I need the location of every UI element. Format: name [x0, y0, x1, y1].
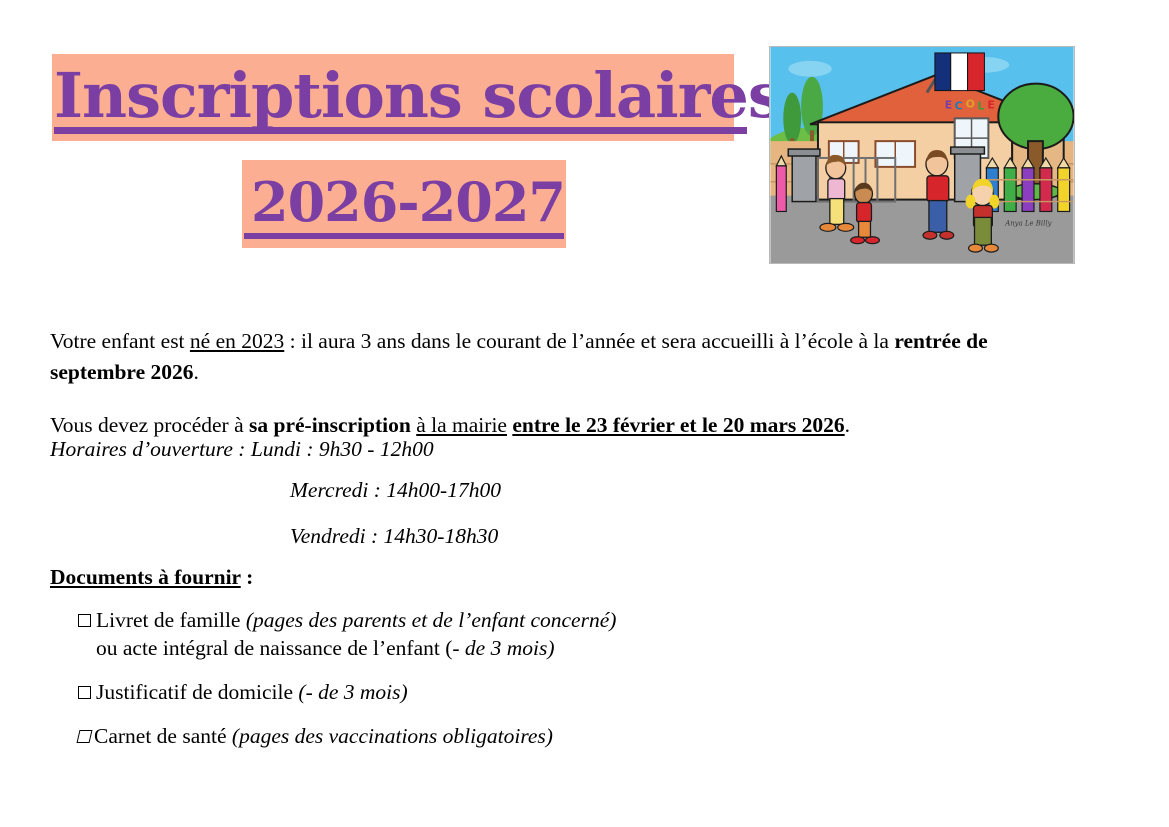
- svg-text:O: O: [966, 97, 975, 110]
- svg-text:E: E: [987, 98, 994, 111]
- checkbox-icon[interactable]: [76, 730, 92, 743]
- svg-text:C: C: [955, 99, 963, 112]
- doc-1-sub-note: de 3 mois): [465, 636, 555, 660]
- doc-1-note: (pages des parents et de l’enfant concer…: [246, 608, 617, 632]
- header-zone: Inscriptions scolaires 2026-2027: [0, 0, 1169, 280]
- doc-2-main: Justificatif de domicile: [96, 680, 298, 704]
- p2-dates-bold-underlined: entre le 23 février et le 20 mars 2026: [512, 413, 844, 437]
- p1-seg-3: : il aura 3 ans dans le courant de l’ann…: [284, 329, 894, 353]
- p2-seg-1: Vous devez procéder à: [50, 413, 249, 437]
- doc-1-main: Livret de famille: [96, 608, 246, 632]
- year-underline-rule: [244, 233, 564, 239]
- document-item-livret-alternative: ou acte intégral de naissance de l’enfan…: [96, 634, 554, 662]
- french-flag-icon: [935, 53, 985, 91]
- opening-hours-wednesday: Mercredi : 14h00-17h00: [290, 475, 501, 506]
- doc-3-note: (pages des vaccinations obligatoires): [232, 724, 553, 748]
- document-item-livret-de-famille: Livret de famille (pages des parents et …: [78, 606, 616, 634]
- p2-seg-7: .: [845, 413, 850, 437]
- documents-heading-label: Documents à fournir: [50, 565, 241, 589]
- page-subtitle-year: 2026-2027: [243, 170, 573, 234]
- doc-3-main: Carnet de santé: [94, 724, 232, 748]
- doc-2-note: (- de 3 mois): [298, 680, 407, 704]
- checkbox-icon[interactable]: [78, 614, 91, 627]
- school-illustration: E C O L E: [769, 46, 1075, 264]
- page-title: Inscriptions scolaires: [54, 60, 754, 132]
- title-underline-rule: [54, 127, 747, 134]
- svg-text:E: E: [945, 98, 952, 111]
- checkbox-icon[interactable]: [78, 686, 91, 699]
- doc-1-sub-main: ou acte intégral de naissance de l’enfan…: [96, 636, 465, 660]
- paragraph-enrollment-age: Votre enfant est né en 2023 : il aura 3 …: [50, 326, 1060, 388]
- p1-seg-5: .: [194, 360, 199, 384]
- opening-hours-monday: Horaires d’ouverture : Lundi : 9h30 - 12…: [50, 434, 434, 465]
- document-item-justificatif-de-domicile: Justificatif de domicile (- de 3 mois): [78, 678, 408, 706]
- document-item-carnet-de-sante: Carnet de santé (pages des vaccinations …: [78, 722, 553, 750]
- documents-heading-suffix: :: [241, 565, 254, 589]
- p1-birthyear-underlined: né en 2023: [190, 329, 284, 353]
- opening-hours-friday: Vendredi : 14h30-18h30: [290, 521, 498, 552]
- p1-seg-1: Votre enfant est: [50, 329, 190, 353]
- p2-preinscription-bold: sa pré-inscription: [249, 413, 411, 437]
- documents-heading: Documents à fournir :: [50, 562, 253, 593]
- illustration-signature: Anya Le Billy: [1004, 219, 1051, 227]
- p2-mairie-underlined: à la mairie: [416, 413, 507, 437]
- svg-text:L: L: [977, 99, 984, 112]
- school-illustration-svg: E C O L E: [770, 47, 1074, 263]
